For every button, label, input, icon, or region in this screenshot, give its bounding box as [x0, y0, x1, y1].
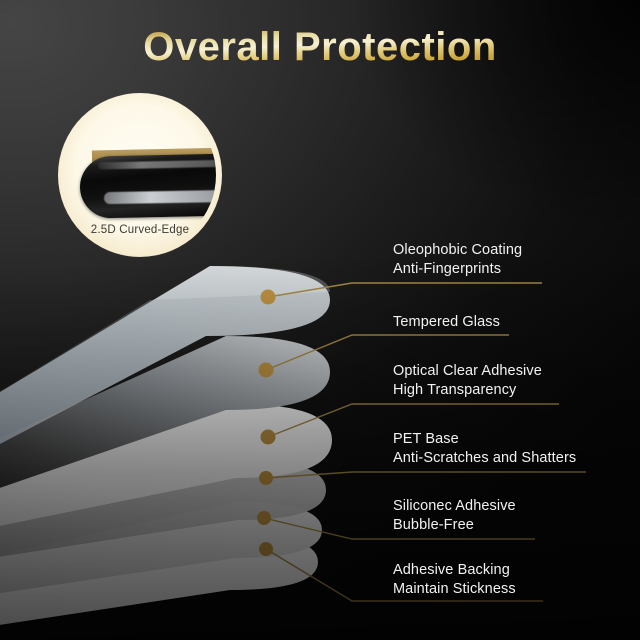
label-line-2: Maintain Stickness: [393, 580, 516, 599]
label-line-2: Anti-Fingerprints: [393, 260, 522, 279]
label-line-1: Oleophobic Coating: [393, 242, 522, 258]
label-line-1: Adhesive Backing: [393, 562, 510, 578]
label-line-1: PET Base: [393, 431, 459, 447]
label-line-1: Tempered Glass: [393, 314, 500, 330]
dot-pet-base: [259, 471, 273, 485]
label-line-2: Anti-Scratches and Shatters: [393, 449, 576, 468]
page-title: Overall Protection: [0, 27, 640, 67]
label-line-1: Siliconec Adhesive: [393, 498, 516, 514]
label-optical-clear-adhesive: Optical Clear Adhesive High Transparency: [393, 362, 542, 399]
label-adhesive-backing: Adhesive Backing Maintain Stickness: [393, 561, 516, 598]
screen-protector-infographic: Overall Protection 2.5D Curved-Edge Oleo…: [0, 0, 640, 640]
label-tempered-glass: Tempered Glass: [393, 313, 500, 332]
dot-adhesive-backing: [259, 542, 273, 556]
label-line-1: Optical Clear Adhesive: [393, 363, 542, 379]
label-line-2: High Transparency: [393, 381, 542, 400]
label-oleophobic-coating: Oleophobic Coating Anti-Fingerprints: [393, 241, 522, 278]
dot-oleophobic-coating: [261, 290, 276, 305]
curved-edge-caption: 2.5D Curved-Edge: [64, 224, 216, 236]
glass-inner-highlight: [104, 190, 216, 204]
dot-optical-clear-adhesive: [261, 430, 276, 445]
label-pet-base: PET Base Anti-Scratches and Shatters: [393, 430, 576, 467]
label-line-2: Bubble-Free: [393, 516, 516, 535]
dot-tempered-glass: [259, 363, 274, 378]
dot-siliconec-adhesive: [257, 511, 271, 525]
layer-stack: [0, 0, 640, 640]
label-siliconec-adhesive: Siliconec Adhesive Bubble-Free: [393, 497, 516, 534]
